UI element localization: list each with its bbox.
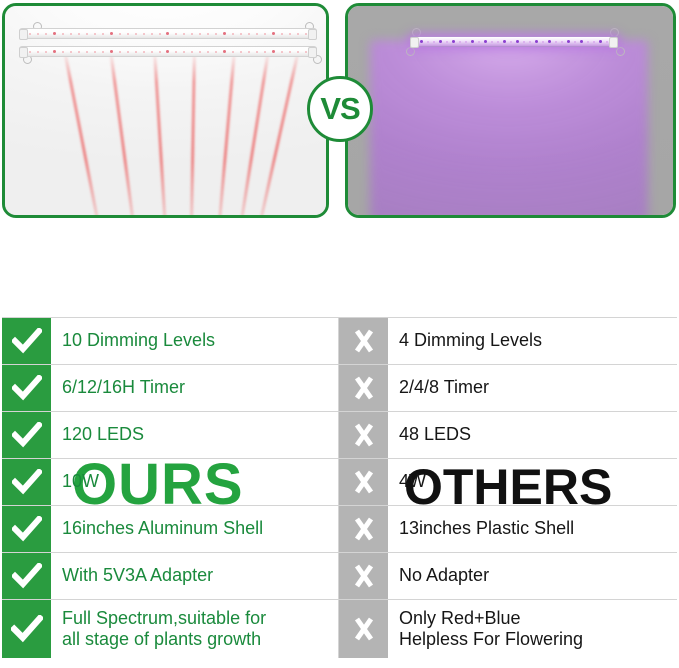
bar-end-cap bbox=[19, 47, 28, 58]
check-icon bbox=[2, 412, 51, 458]
others-feature-text: 4 Dimming Levels bbox=[388, 318, 677, 364]
cross-icon bbox=[339, 600, 388, 658]
light-beam bbox=[63, 50, 100, 218]
led-grow-bar bbox=[410, 36, 618, 47]
mount-bracket-icon bbox=[616, 47, 625, 56]
vs-badge: VS bbox=[307, 76, 373, 142]
bar-end-cap bbox=[19, 29, 28, 40]
light-beam bbox=[190, 50, 196, 218]
table-row: 10 Dimming Levels 4 Dimming Levels bbox=[2, 318, 677, 365]
led-grow-bar bbox=[19, 28, 317, 39]
ours-feature-text: With 5V3A Adapter bbox=[51, 553, 339, 599]
ours-feature-text: 10W bbox=[51, 459, 339, 505]
others-feature-text: No Adapter bbox=[388, 553, 677, 599]
purple-light-flood bbox=[370, 40, 648, 218]
check-icon bbox=[2, 318, 51, 364]
column-headings: OURS OTHERS bbox=[0, 222, 679, 308]
led-dot-strip bbox=[29, 50, 307, 53]
check-icon bbox=[2, 506, 51, 552]
table-row: 10W 4W bbox=[2, 459, 677, 506]
cross-icon bbox=[339, 553, 388, 599]
others-feature-text: 48 LEDS bbox=[388, 412, 677, 458]
light-beam bbox=[217, 50, 236, 218]
table-row: 120 LEDS 48 LEDS bbox=[2, 412, 677, 459]
ours-feature-text: 10 Dimming Levels bbox=[51, 318, 339, 364]
table-row: 6/12/16H Timer 2/4/8 Timer bbox=[2, 365, 677, 412]
led-dot-strip bbox=[420, 40, 608, 43]
table-row: 16inches Aluminum Shell 13inches Plastic… bbox=[2, 506, 677, 553]
led-dot-strip bbox=[29, 32, 307, 35]
others-feature-text: 13inches Plastic Shell bbox=[388, 506, 677, 552]
others-feature-text: Only Red+Blue Helpless For Flowering bbox=[388, 600, 677, 658]
ours-product-panel bbox=[2, 3, 329, 218]
bar-end-cap bbox=[609, 37, 618, 48]
cross-icon bbox=[339, 506, 388, 552]
check-icon bbox=[2, 600, 51, 658]
comparison-table: 10 Dimming Levels 4 Dimming Levels 6/12/… bbox=[2, 317, 677, 658]
table-row: Full Spectrum,suitable for all stage of … bbox=[2, 600, 677, 658]
light-beam bbox=[109, 50, 135, 218]
ours-feature-text: 6/12/16H Timer bbox=[51, 365, 339, 411]
ours-feature-text: Full Spectrum,suitable for all stage of … bbox=[51, 600, 339, 658]
bar-end-cap bbox=[308, 29, 317, 40]
mount-bracket-icon bbox=[406, 47, 415, 56]
ours-feature-text: 120 LEDS bbox=[51, 412, 339, 458]
table-row: With 5V3A Adapter No Adapter bbox=[2, 553, 677, 600]
bar-end-cap bbox=[410, 37, 419, 48]
others-feature-text: 2/4/8 Timer bbox=[388, 365, 677, 411]
light-beam bbox=[153, 50, 167, 218]
others-product-panel bbox=[345, 3, 676, 218]
bar-end-cap bbox=[308, 47, 317, 58]
cross-icon bbox=[339, 459, 388, 505]
cross-icon bbox=[339, 365, 388, 411]
ours-feature-text: 16inches Aluminum Shell bbox=[51, 506, 339, 552]
others-feature-text: 4W bbox=[388, 459, 677, 505]
check-icon bbox=[2, 553, 51, 599]
check-icon bbox=[2, 365, 51, 411]
led-grow-bar bbox=[19, 46, 317, 57]
cross-icon bbox=[339, 318, 388, 364]
hero-comparison-images: VS bbox=[0, 0, 679, 222]
cross-icon bbox=[339, 412, 388, 458]
check-icon bbox=[2, 459, 51, 505]
